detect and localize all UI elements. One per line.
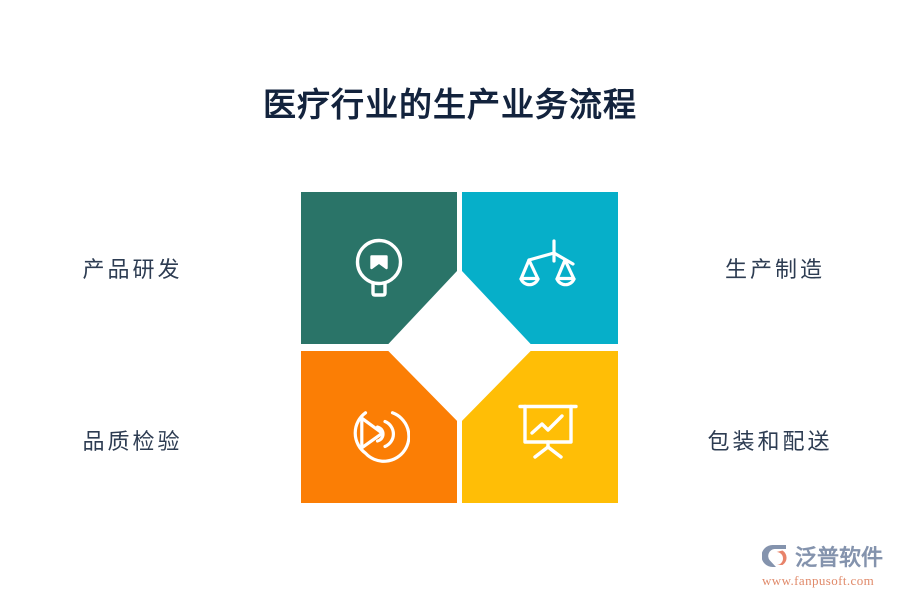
- panel-label-manufacturing: 生产制造: [650, 252, 900, 284]
- panel-label-quality-inspection: 品质检验: [0, 424, 265, 456]
- slide-canvas: 医疗行业的生产业务流程 产品研发 品质检验 生产制造 包装和配送: [0, 0, 900, 600]
- balance-scales-icon: [462, 192, 626, 346]
- panel-product-rd[interactable]: [301, 192, 457, 344]
- watermark-logo: 泛普软件 www.fanpusoft.com: [762, 540, 894, 590]
- panel-label-product-rd: 产品研发: [0, 252, 265, 284]
- watermark-brand-text: 泛普软件: [795, 540, 883, 572]
- panel-label-packaging-delivery: 包装和配送: [640, 424, 900, 456]
- pie-progress-icon: [301, 351, 461, 509]
- panel-manufacturing[interactable]: [462, 192, 618, 344]
- page-title: 医疗行业的生产业务流程: [0, 78, 900, 126]
- pinwheel-diagram: [301, 192, 618, 503]
- panel-packaging-delivery[interactable]: [462, 351, 618, 503]
- presentation-chart-icon: [462, 351, 626, 507]
- fanpu-logo-icon: [762, 541, 792, 571]
- panel-quality-inspection[interactable]: [301, 351, 457, 503]
- watermark-url-text: www.fanpusoft.com: [762, 573, 894, 589]
- watermark-brand-row: 泛普软件: [762, 540, 894, 572]
- lightbulb-icon: [301, 192, 461, 348]
